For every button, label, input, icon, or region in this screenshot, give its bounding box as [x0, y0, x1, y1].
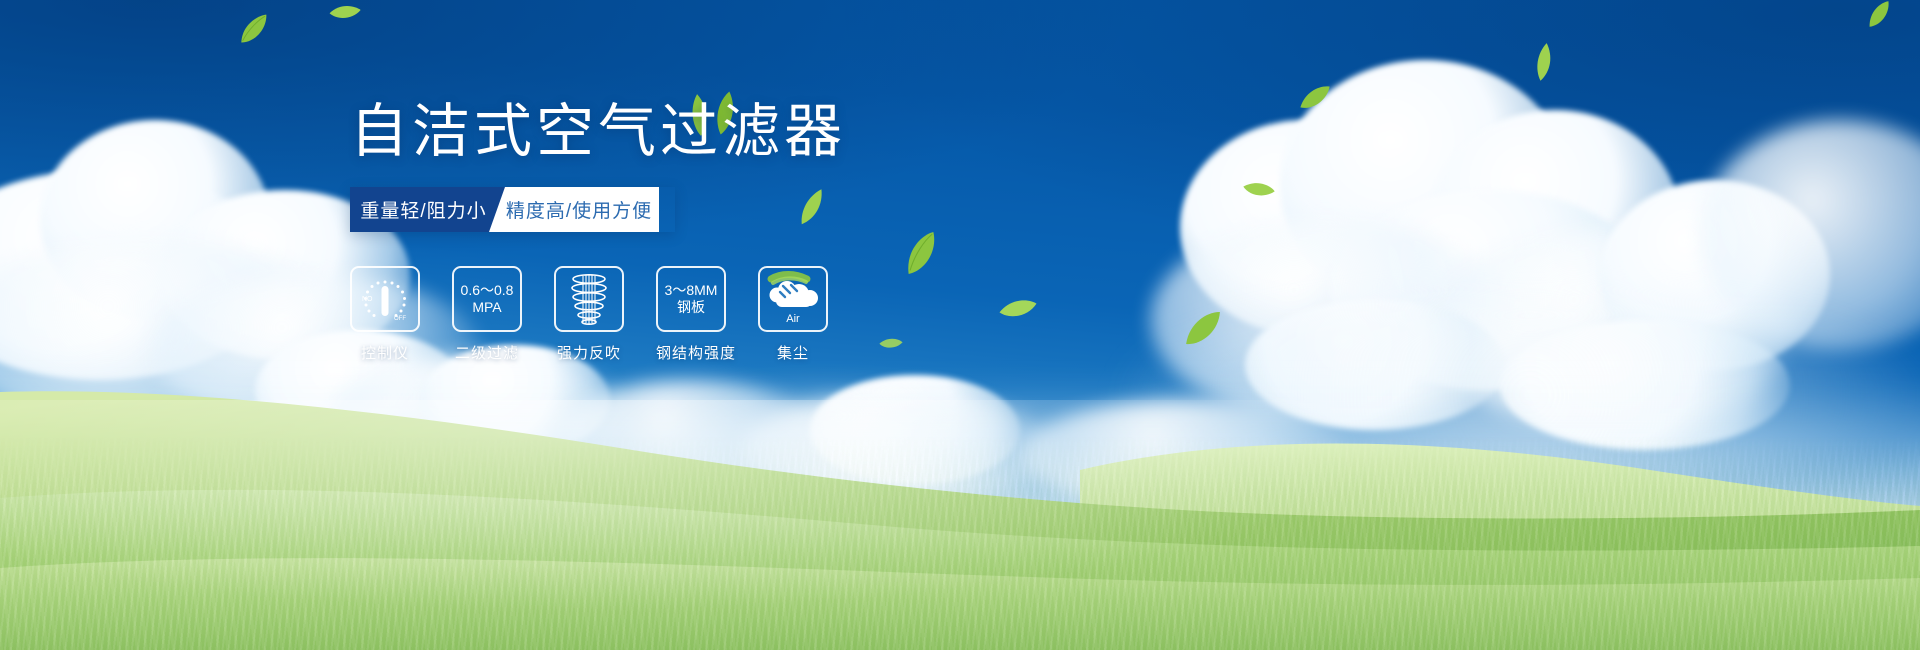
tag-group: 重量轻/阻力小 精度高/使用方便	[350, 187, 675, 232]
gauge-label-no: NO	[362, 296, 373, 303]
feature-label: 钢结构强度	[656, 342, 726, 363]
feature-item: 强力反吹	[554, 266, 624, 363]
feature-label: 二级过滤	[452, 342, 522, 363]
feature-label: 强力反吹	[554, 342, 624, 363]
feature-item: Air 集尘	[758, 266, 828, 363]
feature-label: 集尘	[758, 342, 828, 363]
coil-spring-icon	[566, 272, 612, 326]
cloud-caption: Air	[786, 313, 800, 325]
feature-label: 控制仪	[350, 342, 420, 363]
gauge-label-off: OFF	[394, 316, 406, 322]
feature-item: 0.6～0.8 MPA 二级过滤	[452, 266, 522, 363]
feature-icon-box	[554, 266, 624, 332]
tag-high-precision-easy-use: 精度高/使用方便	[489, 187, 659, 232]
feature-list: NO OFF 控制仪 0.6～0.8 MPA 二级过滤	[350, 266, 1050, 363]
feature-icon-box: Air	[758, 266, 828, 332]
page-title: 自洁式空气过滤器	[350, 100, 1050, 165]
product-banner: 自洁式空气过滤器 重量轻/阻力小 精度高/使用方便	[0, 0, 1920, 650]
feature-icon-box: 3～8MM 钢板	[656, 266, 726, 332]
pressure-text-icon: 0.6～0.8 MPA	[461, 282, 514, 316]
feature-item: NO OFF 控制仪	[350, 266, 420, 363]
steel-plate-text-icon: 3～8MM 钢板	[665, 282, 718, 316]
feature-icon-box: NO OFF	[350, 266, 420, 332]
feature-item: 3～8MM 钢板 钢结构强度	[656, 266, 726, 363]
air-cloud-icon: Air	[763, 271, 823, 327]
tag-lightweight-low-resistance: 重量轻/阻力小	[350, 187, 505, 232]
banner-content: 自洁式空气过滤器 重量轻/阻力小 精度高/使用方便	[350, 100, 1050, 363]
grass-hills	[0, 320, 1920, 650]
feature-icon-box: 0.6～0.8 MPA	[452, 266, 522, 332]
gauge-dial-icon: NO OFF	[356, 273, 414, 325]
